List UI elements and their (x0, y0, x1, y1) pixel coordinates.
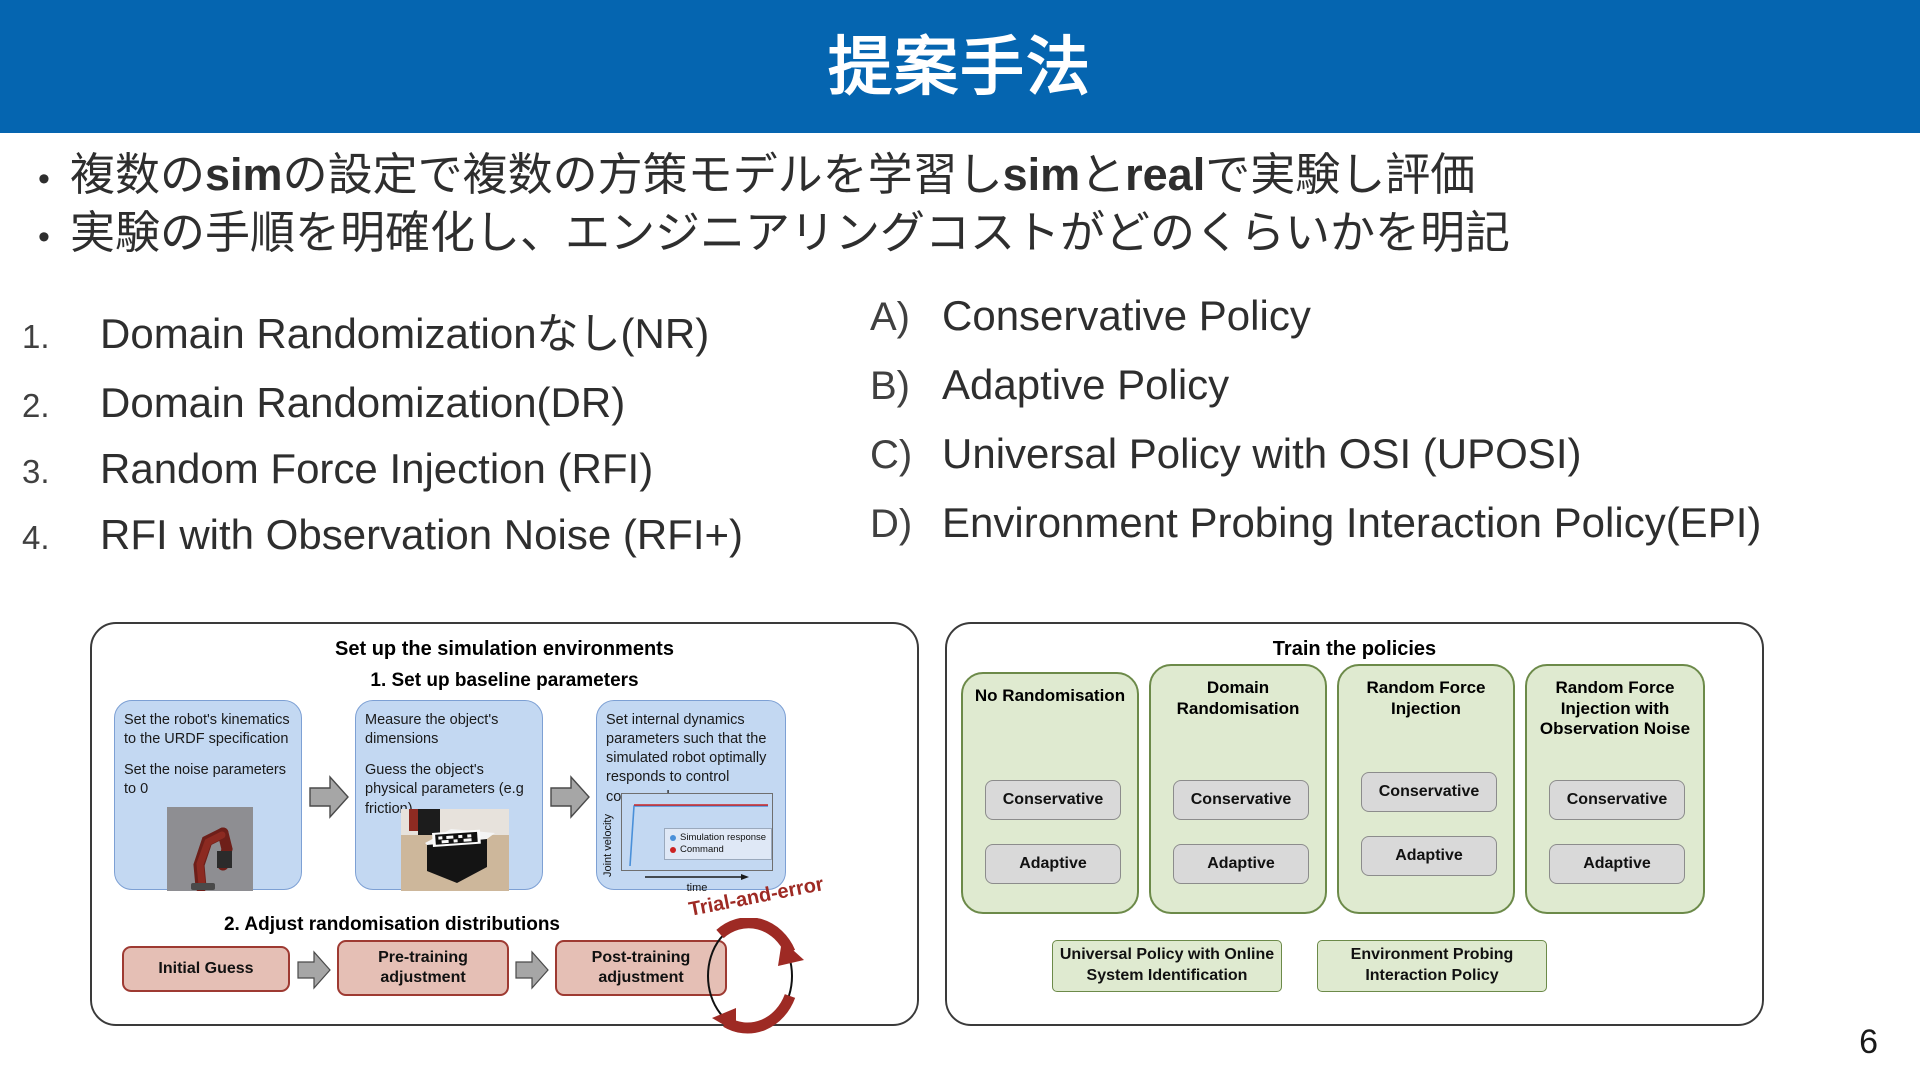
slide-root: 提案手法 • 複数のsimの設定で複数の方策モデルを学習しsimとrealで実験… (0, 0, 1920, 1080)
policy-box-uposi: Universal Policy with Online System Iden… (1052, 940, 1282, 992)
list-item: D) Environment Probing Interaction Polic… (870, 499, 1900, 547)
policy-button-label: Adaptive (1207, 855, 1275, 873)
panel-train-policies: Train the policies No Randomisation Cons… (945, 622, 1764, 1026)
policy-column-title: Domain Randomisation (1151, 678, 1325, 719)
policy-button-conservative[interactable]: Conservative (1173, 780, 1309, 820)
policy-column-no-randomisation: No Randomisation Conservative Adaptive (961, 672, 1139, 914)
legend-dot-icon (670, 847, 676, 853)
list-item-label: Domain Randomizationなし(NR) (100, 300, 709, 361)
policy-button-label: Adaptive (1019, 855, 1087, 873)
setup-step-box-3: Set internal dynamics parameters such th… (596, 700, 786, 890)
list-item: 1. Domain Randomizationなし(NR) (22, 300, 852, 361)
list-marker: 1. (22, 318, 100, 356)
policy-column-domain-randomisation: Domain Randomisation Conservative Adapti… (1149, 664, 1327, 914)
policy-box-epi: Environment Probing Interaction Policy (1317, 940, 1547, 992)
policy-button-conservative[interactable]: Conservative (1549, 780, 1685, 820)
setup-step-box-2: Measure the object's dimensions Guess th… (355, 700, 543, 890)
policy-button-adaptive[interactable]: Adaptive (1549, 844, 1685, 884)
aruco-tag-object-photo (401, 809, 509, 891)
bullet-dot-icon: • (18, 158, 70, 202)
list-item-label: RFI with Observation Noise (RFI+) (100, 511, 743, 559)
list-item-label: Adaptive Policy (942, 361, 1229, 409)
policy-column-rfi-observation-noise: Random Force Injection with Observation … (1525, 664, 1705, 914)
policy-column-random-force-injection: Random Force Injection Conservative Adap… (1337, 664, 1515, 914)
randomisation-box-initial-guess: Initial Guess (122, 946, 290, 992)
bullet-list: • 複数のsimの設定で複数の方策モデルを学習しsimとrealで実験し評価 •… (18, 146, 1718, 261)
panel-right-title: Train the policies (947, 638, 1762, 661)
policy-box-label: Environment Probing Interaction Policy (1318, 945, 1546, 987)
setup-step-box-1-line1: Set the robot's kinematics to the URDF s… (124, 711, 292, 749)
page-title: 提案手法 (828, 35, 1092, 99)
list-marker: D) (870, 502, 942, 547)
legend-dot-icon (670, 835, 676, 841)
legend-label: Simulation response (680, 832, 766, 844)
policy-button-label: Adaptive (1583, 855, 1651, 873)
list-marker: 4. (22, 519, 100, 557)
list-marker: 3. (22, 453, 100, 491)
list-item: C) Universal Policy with OSI (UPOSI) (870, 430, 1900, 478)
joint-velocity-mini-chart: Simulation response Command (621, 793, 773, 871)
list-marker: B) (870, 364, 942, 409)
flow-arrow-icon (308, 774, 350, 820)
mini-chart-legend: Simulation response Command (664, 828, 772, 860)
policy-column-title: Random Force Injection (1339, 678, 1513, 719)
list-item: A) Conservative Policy (870, 292, 1900, 340)
legend-entry: Simulation response (670, 832, 766, 844)
policy-column-title: Random Force Injection with Observation … (1527, 678, 1703, 740)
policy-button-label: Conservative (1379, 783, 1480, 801)
pipeline-diagram: Set up the simulation environments 1. Se… (90, 600, 1880, 1040)
policy-box-label: Universal Policy with Online System Iden… (1053, 945, 1281, 987)
bullet-item-1: • 複数のsimの設定で複数の方策モデルを学習しsimとrealで実験し評価 (18, 146, 1718, 204)
legend-label: Command (680, 844, 724, 856)
list-item-label: Domain Randomization(DR) (100, 379, 625, 427)
flow-arrow-icon (296, 950, 332, 990)
list-item: 2. Domain Randomization(DR) (22, 379, 852, 427)
list-item-label: Environment Probing Interaction Policy(E… (942, 499, 1761, 547)
mini-chart-ylabel: Joint velocity (601, 814, 616, 877)
policy-button-label: Conservative (1191, 791, 1292, 809)
bullet-item-2-label: 実験の手順を明確化し、エンジニアリングコストがどのくらいかを明記 (70, 204, 1510, 262)
trial-and-error-loop-icon (690, 918, 820, 1039)
list-item-label: Conservative Policy (942, 292, 1311, 340)
list-item: 4. RFI with Observation Noise (RFI+) (22, 511, 852, 559)
list-item: 3. Random Force Injection (RFI) (22, 445, 852, 493)
page-number: 6 (1859, 1023, 1878, 1062)
lettered-list-policies: A) Conservative Policy B) Adaptive Polic… (870, 292, 1900, 568)
policy-button-label: Adaptive (1395, 847, 1463, 865)
randomisation-box-label: Initial Guess (158, 959, 253, 979)
title-banner: 提案手法 (0, 0, 1920, 133)
list-item-label: Random Force Injection (RFI) (100, 445, 653, 493)
list-item-label: Universal Policy with OSI (UPOSI) (942, 430, 1581, 478)
policy-button-conservative[interactable]: Conservative (985, 780, 1121, 820)
mini-chart-xaxis: time (645, 873, 749, 882)
setup-step-box-1: Set the robot's kinematics to the URDF s… (114, 700, 302, 890)
bullet-dot-icon: • (18, 216, 70, 260)
bullet-item-2: • 実験の手順を明確化し、エンジニアリングコストがどのくらいかを明記 (18, 204, 1718, 262)
flow-arrow-icon (514, 950, 550, 990)
list-marker: C) (870, 433, 942, 478)
policy-button-adaptive[interactable]: Adaptive (1361, 836, 1497, 876)
numbered-list-methods: 1. Domain Randomizationなし(NR) 2. Domain … (22, 300, 852, 577)
setup-step-box-2-line1: Measure the object's dimensions (365, 711, 533, 749)
policy-button-label: Conservative (1003, 791, 1104, 809)
policy-column-title: No Randomisation (963, 686, 1137, 707)
policy-button-adaptive[interactable]: Adaptive (985, 844, 1121, 884)
step-2-title: 2. Adjust randomisation distributions (162, 914, 622, 936)
step-1-title: 1. Set up baseline parameters (92, 670, 917, 692)
legend-entry: Command (670, 844, 766, 856)
setup-step-box-1-line2: Set the noise parameters to 0 (124, 761, 292, 799)
randomisation-box-label: Pre-training adjustment (339, 948, 507, 987)
policy-button-adaptive[interactable]: Adaptive (1173, 844, 1309, 884)
list-marker: 2. (22, 387, 100, 425)
robot-arm-photo (167, 807, 253, 891)
list-marker: A) (870, 295, 942, 340)
flow-arrow-icon (549, 774, 591, 820)
list-item: B) Adaptive Policy (870, 361, 1900, 409)
panel-left-title: Set up the simulation environments (92, 638, 917, 661)
policy-button-label: Conservative (1567, 791, 1668, 809)
bullet-item-1-label: 複数のsimの設定で複数の方策モデルを学習しsimとrealで実験し評価 (70, 146, 1475, 204)
randomisation-box-pre-training: Pre-training adjustment (337, 940, 509, 996)
policy-button-conservative[interactable]: Conservative (1361, 772, 1497, 812)
